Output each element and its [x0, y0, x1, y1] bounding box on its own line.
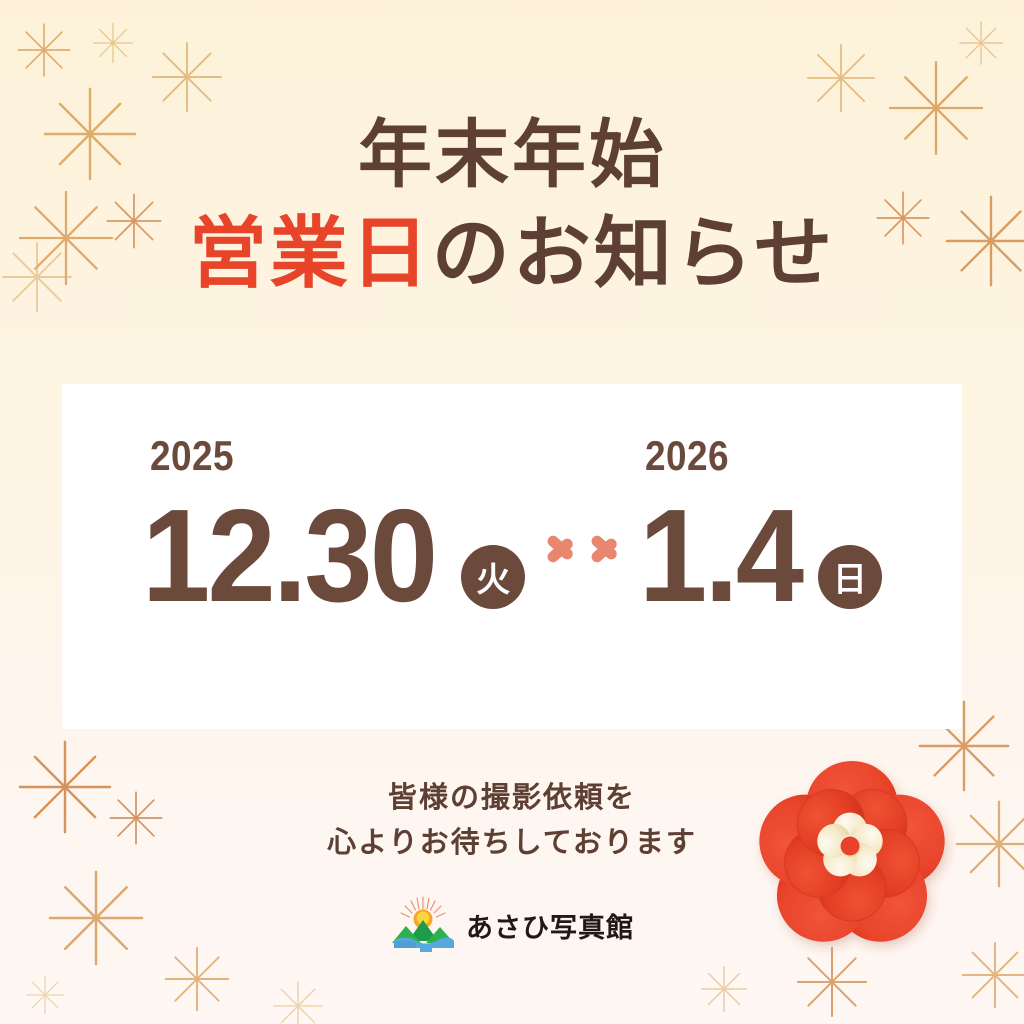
sparkle-icon [48, 870, 144, 966]
chevron-right-icon [589, 521, 623, 577]
end-date: 1.4 [639, 498, 801, 614]
start-day-of-week-badge: 火 [461, 545, 525, 609]
poster-title: 年末年始 営業日のお知らせ [0, 118, 1024, 292]
sparkle-icon [960, 940, 1024, 1010]
company-name: あさひ写真館 [466, 906, 634, 945]
company-logo: あさひ写真館 [390, 896, 634, 954]
red-plum-blossom-svg [748, 748, 956, 956]
start-date-group: 2025 12.30 火 [142, 498, 525, 614]
start-date: 12.30 [142, 498, 435, 614]
title-highlight: 営業日 [189, 209, 432, 297]
sunrise-mountain-river-icon-svg [390, 896, 456, 954]
sparkle-icon [25, 975, 65, 1015]
end-year: 2026 [645, 432, 729, 480]
start-year: 2025 [150, 432, 234, 480]
sparkle-icon [150, 40, 224, 114]
range-separator-chevrons [545, 521, 623, 577]
date-range-row: 2025 12.30 火 2026 1.4 日 [62, 384, 962, 729]
sparkle-icon [272, 980, 324, 1024]
sparkle-icon [163, 945, 231, 1013]
chevron-right-icon [545, 521, 579, 577]
end-date-group: 2026 1.4 日 [639, 498, 882, 614]
sparkle-icon [795, 945, 869, 1019]
sparkle-icon [805, 42, 877, 114]
sparkle-icon [16, 22, 72, 78]
sparkle-icon [958, 20, 1004, 66]
new-year-business-hours-poster: 年末年始 営業日のお知らせ 2025 12.30 火 2026 1.4 日 皆様… [0, 0, 1024, 1024]
title-rest: のお知らせ [432, 209, 835, 297]
title-line-1: 年末年始 [0, 118, 1024, 192]
sunrise-mountain-river-icon [390, 896, 456, 954]
sparkle-icon [700, 965, 748, 1013]
date-range-card: 2025 12.30 火 2026 1.4 日 [62, 384, 962, 729]
sparkle-icon [92, 22, 134, 64]
end-day-of-week-badge: 日 [818, 545, 882, 609]
title-line-2: 営業日のお知らせ [0, 214, 1024, 292]
red-plum-blossom-icon [748, 748, 956, 956]
